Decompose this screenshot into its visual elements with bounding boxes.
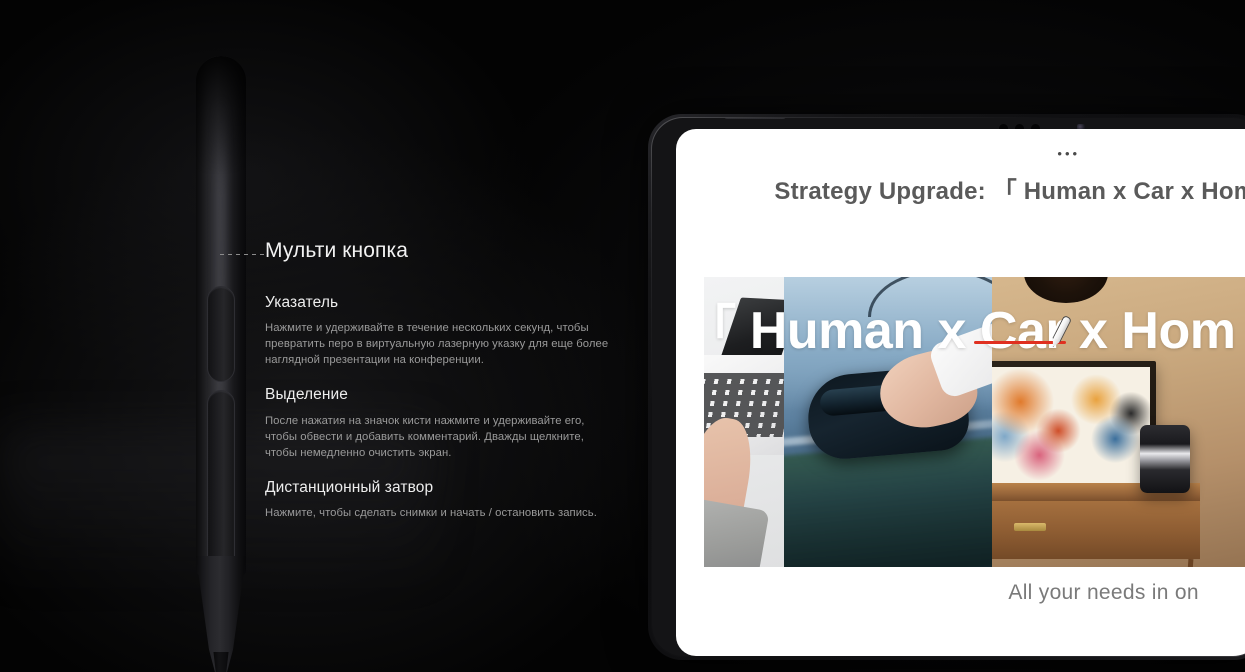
tablet-bezel: ••• Strategy Upgrade: 「 Human x Car x Ho… (652, 118, 1245, 655)
stylus-pen (186, 56, 258, 670)
feature-section-body: Нажмите, чтобы сделать снимки и начать /… (265, 505, 615, 521)
feature-section-remote-shutter: Дистанционный затвор Нажмите, чтобы сдел… (265, 478, 615, 521)
feature-section-highlight: Выделение После нажатия на значок кисти … (265, 385, 615, 460)
slide-title: Strategy Upgrade: 「 Human x Car x Hom (774, 171, 1245, 206)
slide-menu-dots-icon[interactable]: ••• (1057, 147, 1080, 160)
stylus-top-shadow (196, 56, 246, 176)
feature-section-body: Нажмите и удерживайте в течение нескольк… (265, 320, 615, 368)
page-root: Мульти кнопка Указатель Нажмите и удержи… (0, 0, 1245, 672)
slide-tagline: All your needs in on (1008, 581, 1198, 605)
feature-section-title: Выделение (265, 385, 615, 405)
stylus-multi-button[interactable] (207, 286, 235, 382)
callout-leader-line (220, 254, 264, 255)
feature-section-pointer: Указатель Нажмите и удерживайте в течени… (265, 293, 615, 368)
feature-section-title: Дистанционный затвор (265, 478, 615, 498)
tablet-device: ••• Strategy Upgrade: 「 Human x Car x Ho… (648, 114, 1245, 660)
tablet-screen[interactable]: ••• Strategy Upgrade: 「 Human x Car x Ho… (676, 129, 1245, 655)
car-door-handle-photo (784, 277, 992, 567)
stylus-magnet-nub (724, 118, 786, 119)
feature-copy-column: Мульти кнопка Указатель Нажмите и удержи… (265, 238, 615, 521)
image-strip (704, 277, 1245, 567)
desk-laptop-photo (704, 277, 784, 567)
callout-title: Мульти кнопка (265, 238, 615, 263)
home-speaker-photo (992, 277, 1245, 567)
tablet-rim: ••• Strategy Upgrade: 「 Human x Car x Ho… (651, 117, 1245, 657)
stylus-secondary-button[interactable] (207, 390, 235, 580)
red-underline-annotation (974, 341, 1066, 344)
feature-section-body: После нажатия на значок кисти нажмите и … (265, 413, 615, 461)
feature-section-title: Указатель (265, 293, 615, 313)
